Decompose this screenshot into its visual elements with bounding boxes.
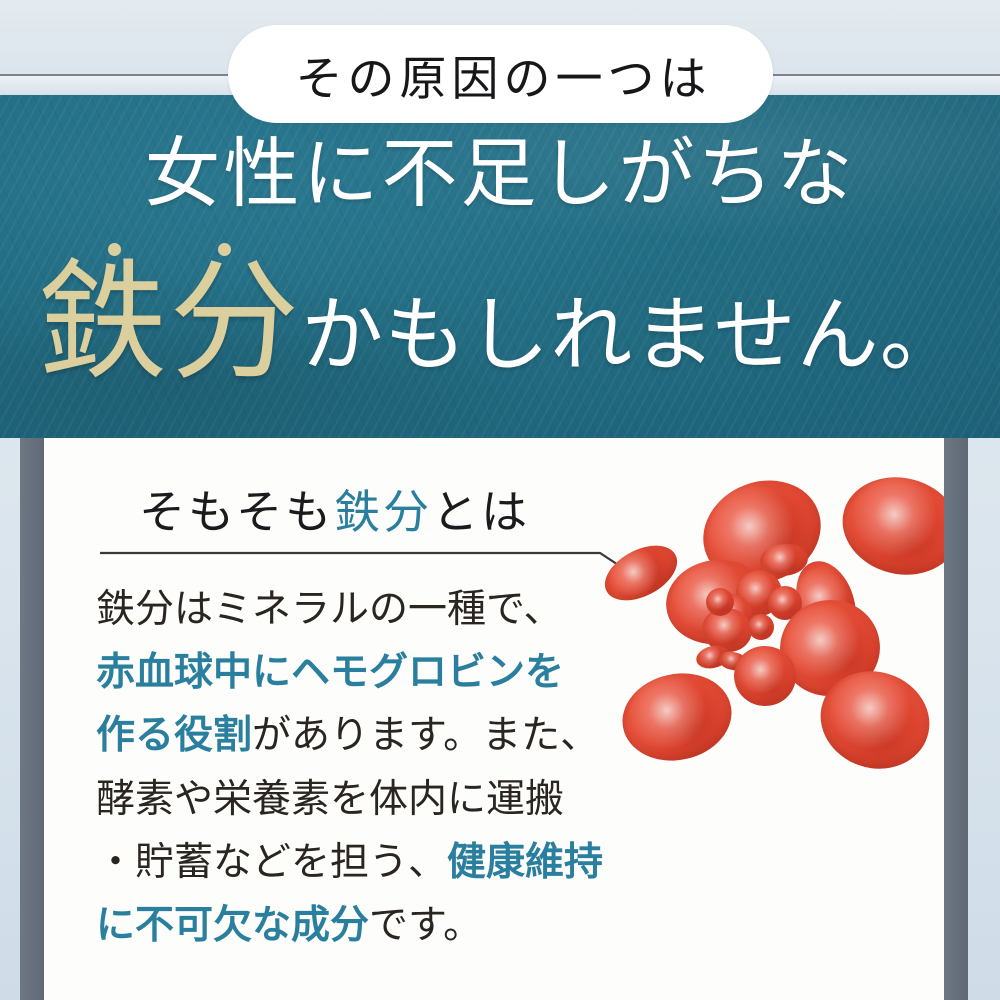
- hero-emphasis-word: 鉄分: [37, 237, 301, 389]
- red-blood-cell: [832, 465, 944, 587]
- connector-line-left: [0, 74, 262, 76]
- headline-badge-text: その原因の一つは: [290, 40, 712, 109]
- card-heading-prefix: そもそも: [139, 487, 334, 538]
- hero-line-2: 鉄分 かもしれません。: [0, 237, 1000, 389]
- hero-tail-text: かもしれません。: [301, 295, 963, 389]
- body-plain: 酵素や栄養素を体内に運搬: [96, 778, 564, 821]
- hero-emphasis-text: 鉄分: [37, 252, 301, 396]
- body-line: 鉄分はミネラルの一種で、: [96, 578, 616, 641]
- connector-line-right: [740, 74, 1000, 76]
- hero-line-1: 女性に不足しがちな: [0, 137, 1000, 213]
- body-highlight: 作る役割: [96, 714, 252, 757]
- card-heading-suffix: とは: [432, 487, 530, 538]
- body-line: 酵素や栄養素を体内に運搬: [96, 768, 616, 831]
- body-line: 赤血球中にヘモグロビンを: [96, 641, 616, 704]
- card-heading-accent: 鉄分: [334, 487, 432, 538]
- card-shadow-right: [942, 438, 968, 1000]
- content-card: そもそも鉄分とは 鉄分はミネラルの一種で、赤血球中にヘモグロビンを作る役割があり…: [44, 438, 944, 1000]
- hero-banner: 女性に不足しがちな 鉄分 かもしれません。: [0, 95, 1000, 438]
- headline-badge: その原因の一つは: [228, 25, 773, 123]
- heading-divider: [100, 550, 640, 580]
- body-plain: 鉄分はミネラルの一種で、: [96, 588, 562, 631]
- body-line: ・貯蓄などを担う、健康維持: [96, 831, 616, 894]
- page-root: その原因の一つは 女性に不足しがちな 鉄分 かもしれません。 そもそも鉄分とは …: [0, 0, 1000, 1000]
- body-line: 作る役割があります。また、: [96, 704, 616, 767]
- red-blood-cell: [748, 614, 774, 640]
- body-highlight: 健康維持: [447, 841, 603, 884]
- red-blood-cell: [614, 664, 739, 771]
- card-heading: そもそも鉄分とは: [139, 476, 530, 542]
- card-shadow-left: [20, 438, 46, 1000]
- body-highlight: 赤血球中にヘモグロビンを: [96, 651, 564, 694]
- body-plain: ・貯蓄などを担う、: [96, 841, 447, 884]
- card-body-text: 鉄分はミネラルの一種で、赤血球中にヘモグロビンを作る役割があります。また、酵素や…: [96, 578, 616, 957]
- body-highlight: に不可欠な成分: [96, 904, 369, 947]
- body-plain: があります。また、: [252, 714, 599, 757]
- red-blood-cells-illustration: [584, 460, 944, 900]
- red-blood-cell: [706, 588, 734, 616]
- body-plain: です。: [369, 904, 482, 947]
- body-line: に不可欠な成分です。: [96, 894, 616, 957]
